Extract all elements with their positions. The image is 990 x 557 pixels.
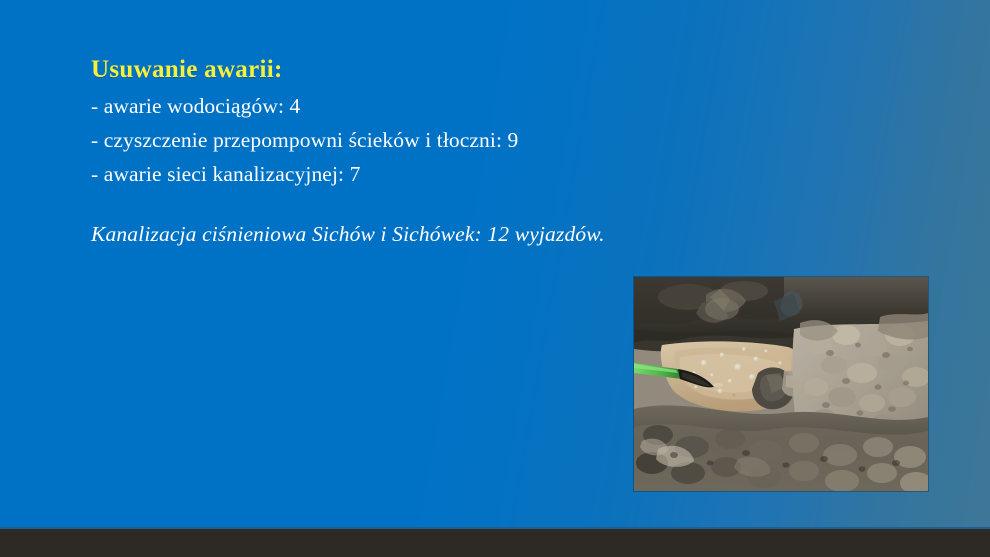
text-spacer [91, 192, 711, 218]
slide-text-block: Usuwanie awarii: - awarie wodociągów: 4 … [91, 54, 711, 250]
note-pressure-sewer-trips: Kanalizacja ciśnieniowa Sichów i Sichówe… [91, 218, 711, 250]
slide-title: Usuwanie awarii: [91, 54, 711, 85]
bullet-item-pump-station-cleaning: - czyszczenie przepompowni ścieków i tło… [91, 124, 711, 158]
excavation-photo-graphic [634, 277, 928, 491]
bullet-item-water-failures: - awarie wodociągów: 4 [91, 90, 711, 124]
excavation-photo [634, 277, 928, 491]
slide-footer-band [0, 527, 990, 557]
bullet-item-sewer-network-failures: - awarie sieci kanalizacyjnej: 7 [91, 158, 711, 192]
presentation-slide: Usuwanie awarii: - awarie wodociągów: 4 … [0, 0, 990, 557]
